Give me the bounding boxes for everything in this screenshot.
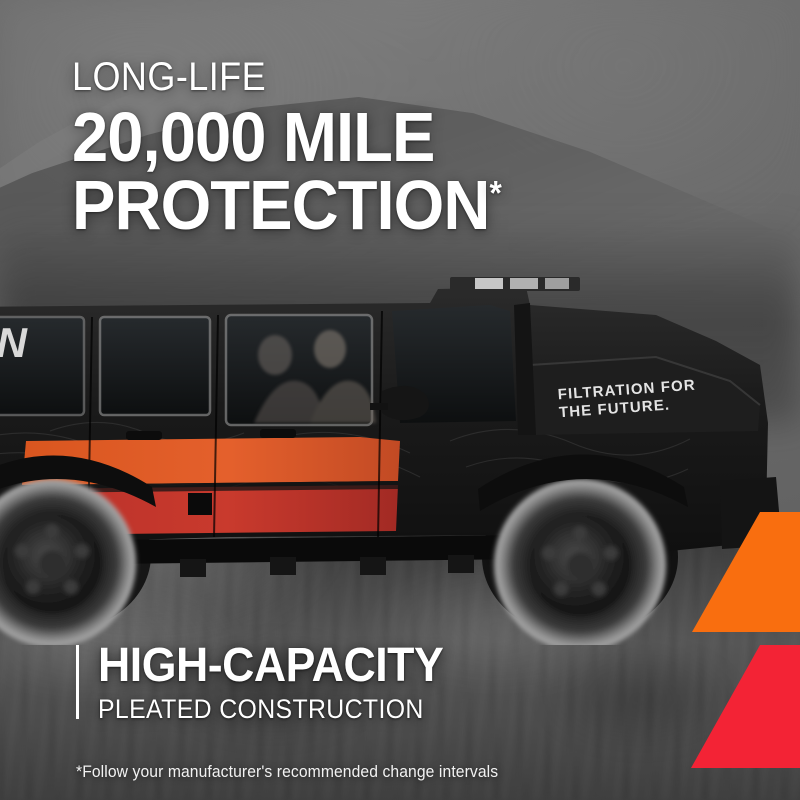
subheadline-main: HIGH-CAPACITY [98,641,598,691]
headline-asterisk: * [489,175,500,213]
vehicle-door-handle-rear [126,431,162,440]
headline-block: LONG-LIFE 20,000 MILE PROTECTION* [72,56,692,238]
headline-line-1: 20,000 MILE [72,104,649,170]
ad-canvas: FILTRATION FOR THE FUTURE. AMG K&N [0,0,800,800]
vehicle-kn-logo-text: K&N [0,319,29,366]
vehicle-wheel-front [494,479,666,645]
vehicle-window-mid [100,317,210,415]
headline-line-2-text: PROTECTION [72,166,489,244]
headline-line-2: PROTECTION* [72,172,649,238]
subheadline-sub: PLEATED CONSTRUCTION [98,694,593,724]
headline-kicker: LONG-LIFE [72,56,630,98]
accent-shapes-svg [670,495,800,785]
footnote-text: *Follow your manufacturer's recommended … [76,762,684,782]
subheadline-block: HIGH-CAPACITY PLEATED CONSTRUCTION [76,641,636,724]
vehicle-door-handle-front [260,429,296,438]
accent-shapes [670,495,800,785]
orange-parallelogram-icon [692,512,800,632]
red-parallelogram-icon [691,645,800,768]
vertical-rule-icon [76,645,79,719]
